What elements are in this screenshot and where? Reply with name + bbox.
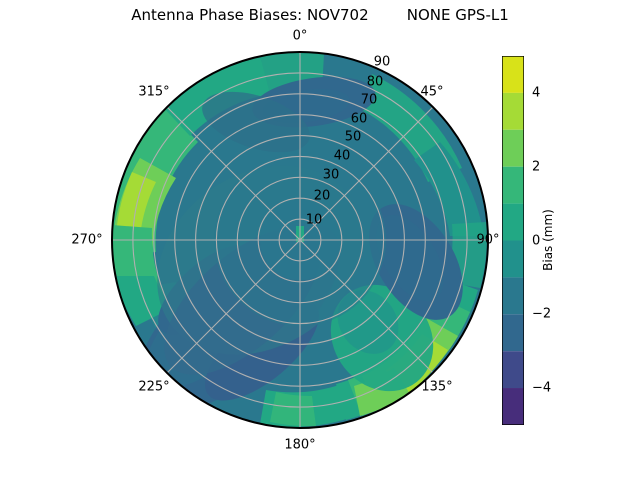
polar-contour-svg [110, 50, 490, 430]
angular-tick-45: 45° [420, 85, 443, 100]
radial-tick-50: 50 [345, 130, 362, 145]
radial-tick-10: 10 [306, 213, 323, 228]
page-title: Antenna Phase Biases: NOV702 NONE GPS-L1 [0, 6, 640, 24]
figure-canvas: Antenna Phase Biases: NOV702 NONE GPS-L1 [0, 0, 640, 480]
colorbar-tick-4: 4 [532, 85, 540, 100]
radial-tick-30: 30 [323, 168, 340, 183]
angular-tick-270: 270° [71, 233, 102, 248]
colorbar-tick-0: 0 [532, 233, 540, 248]
colorbar-tick-neg4: −4 [532, 381, 551, 396]
radial-tick-90: 90 [374, 55, 391, 70]
angular-tick-90: 90° [476, 233, 499, 248]
colorbar[interactable]: 4 2 0 −2 −4 [502, 56, 524, 425]
colorbar-axis-label: Bias (mm) [541, 209, 555, 271]
radial-tick-80: 80 [367, 75, 384, 90]
colorbar-tick-2: 2 [532, 159, 540, 174]
angular-tick-180: 180° [284, 438, 315, 453]
radial-tick-40: 40 [334, 149, 351, 164]
polar-grid [112, 52, 488, 428]
angular-tick-225: 225° [138, 380, 169, 395]
colorbar-gradient [502, 56, 524, 425]
polar-plot-axes[interactable]: 0° 45° 90° 135° 180° 225° 270° 315° 10 2… [110, 50, 490, 430]
radial-tick-70: 70 [361, 93, 378, 108]
colorbar-tick-neg2: −2 [532, 307, 551, 322]
angular-tick-0: 0° [293, 29, 308, 44]
radial-tick-60: 60 [351, 112, 368, 127]
angular-tick-315: 315° [138, 85, 169, 100]
radial-tick-20: 20 [314, 189, 331, 204]
angular-tick-135: 135° [421, 380, 452, 395]
